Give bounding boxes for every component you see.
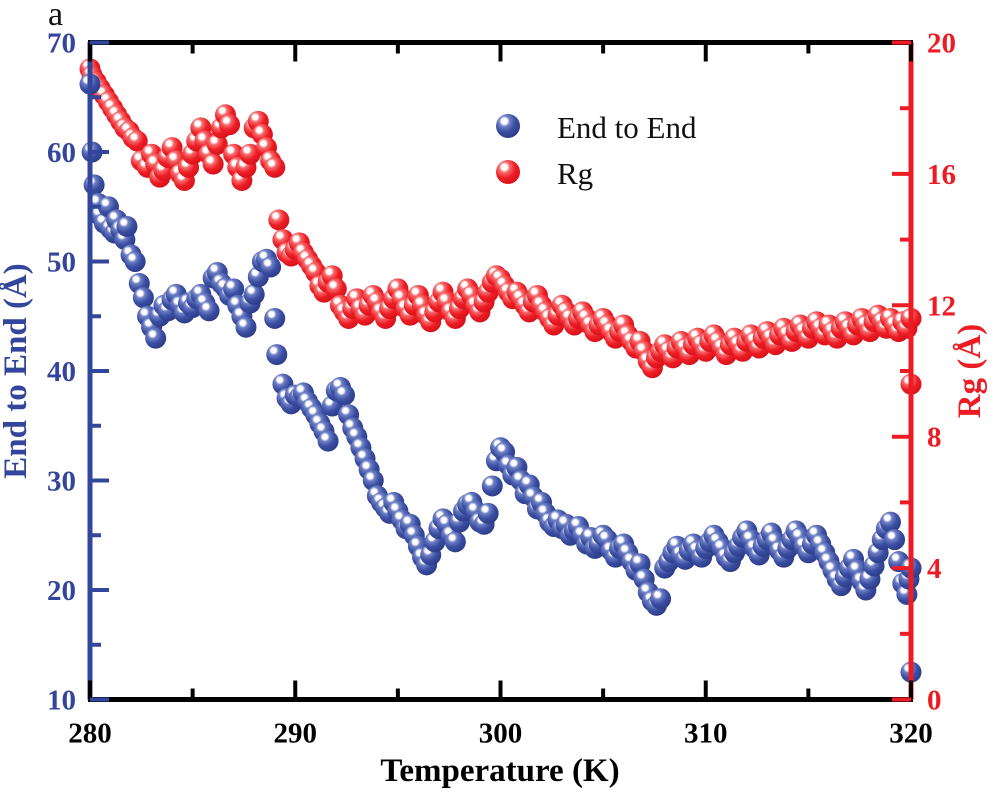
x-axis-tick-label: 300 — [479, 718, 523, 750]
data-point — [650, 588, 671, 609]
legend-label-rg: Rg — [557, 156, 593, 191]
y-right-tick-label: 0 — [927, 685, 942, 717]
legend-marker-end-to-end — [496, 114, 520, 138]
data-point — [260, 256, 281, 277]
x-axis-tick-label: 310 — [684, 718, 728, 750]
data-point — [235, 317, 256, 338]
y-right-tick-label: 12 — [927, 290, 956, 322]
x-axis-tick-label: 280 — [68, 718, 112, 750]
y-left-tick-label: 10 — [47, 685, 76, 717]
y-left-axis-tick-labels: 10203040506070 — [47, 28, 76, 717]
data-point — [133, 287, 154, 308]
data-point — [334, 385, 355, 406]
y-left-axis-title: End to End (Å) — [0, 263, 34, 478]
data-point — [880, 512, 901, 533]
data-point — [125, 251, 146, 272]
x-axis-tick-label: 320 — [889, 718, 933, 750]
scatter-plot: 280290300310320 10203040506070 048121620… — [0, 0, 1005, 798]
x-axis-title: Temperature (K) — [380, 753, 619, 789]
x-axis-tick-label: 290 — [274, 718, 318, 750]
data-point — [268, 209, 289, 230]
y-right-tick-label: 20 — [927, 28, 956, 60]
y-right-tick-label: 8 — [927, 422, 942, 454]
data-point — [244, 284, 265, 305]
data-point — [199, 300, 220, 321]
y-left-tick-label: 70 — [47, 28, 76, 60]
data-point — [266, 344, 287, 365]
data-point — [219, 114, 240, 135]
y-left-tick-label: 50 — [47, 247, 76, 279]
y-right-axis-title: Rg (Å) — [952, 324, 988, 418]
data-point — [478, 503, 499, 524]
data-point — [482, 475, 503, 496]
y-left-tick-label: 40 — [47, 356, 76, 388]
y-right-tick-label: 4 — [927, 553, 942, 585]
y-left-tick-label: 30 — [47, 466, 76, 498]
data-point — [445, 531, 466, 552]
data-point — [318, 431, 339, 452]
y-left-tick-label: 60 — [47, 137, 76, 169]
data-point — [84, 174, 105, 195]
data-point — [884, 529, 905, 550]
legend-marker-rg — [496, 160, 520, 184]
data-point — [145, 328, 166, 349]
data-point — [264, 308, 285, 329]
y-left-tick-label: 20 — [47, 575, 76, 607]
data-point — [116, 216, 137, 237]
y-right-tick-label: 16 — [927, 159, 956, 191]
figure-panel-a: a — [0, 0, 1005, 798]
x-axis-tick-labels: 280290300310320 — [68, 718, 933, 750]
data-point — [203, 154, 224, 175]
legend-label-end-to-end: End to End — [557, 110, 697, 145]
data-point — [264, 157, 285, 178]
